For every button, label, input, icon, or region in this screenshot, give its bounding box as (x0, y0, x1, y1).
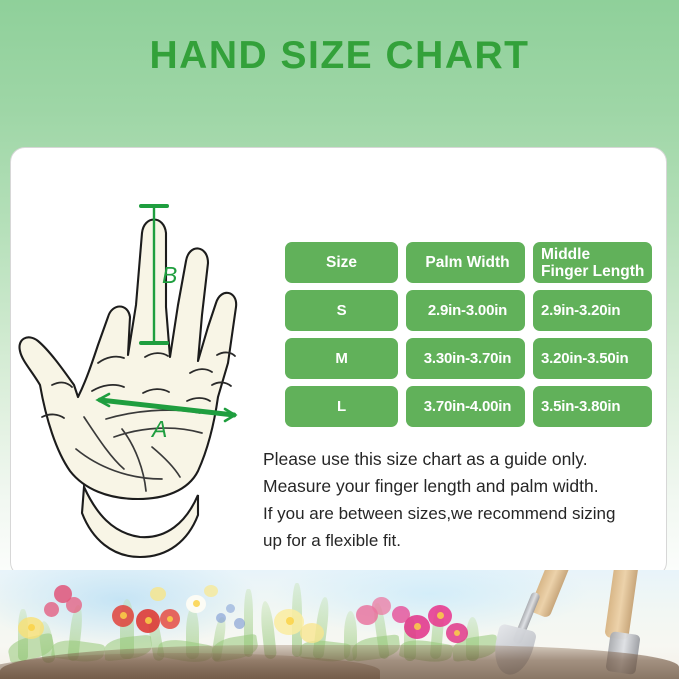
flower-center (120, 612, 127, 619)
table-header-row: Size Palm Width Middle Finger Length (285, 242, 655, 283)
header-size: Size (285, 242, 398, 283)
cell-finger-length-m: 3.20in-3.50in (533, 338, 652, 379)
flower-pink (372, 597, 391, 615)
garden-photo-strip (0, 570, 679, 679)
flower-yellow (204, 585, 218, 597)
cell-finger-length-s: 2.9in-3.20in (533, 290, 652, 331)
flower-center (414, 623, 421, 630)
cell-palm-width-m: 3.30in-3.70in (406, 338, 525, 379)
flower-center (167, 616, 173, 622)
page-title: HAND SIZE CHART (0, 30, 679, 82)
cell-finger-length-l: 3.5in-3.80in (533, 386, 652, 427)
table-row: M 3.30in-3.70in 3.20in-3.50in (285, 338, 655, 379)
cell-size-l: L (285, 386, 398, 427)
table-row: S 2.9in-3.00in 2.9in-3.20in (285, 290, 655, 331)
flower-blue (234, 618, 245, 629)
cell-size-m: M (285, 338, 398, 379)
table-row: L 3.70in-4.00in 3.5in-3.80in (285, 386, 655, 427)
size-table: Size Palm Width Middle Finger Length S 2… (285, 242, 655, 434)
cell-palm-width-l: 3.70in-4.00in (406, 386, 525, 427)
hand-size-chart-page: HAND SIZE CHART (0, 0, 679, 679)
flower-blue (216, 613, 226, 623)
flower-center (454, 630, 460, 636)
flower-yellow (150, 587, 166, 601)
palm-width-label: A (150, 416, 167, 442)
flower-center (437, 612, 444, 619)
flower-center (145, 617, 152, 624)
hand-measurement-diagram: B A (12, 185, 274, 575)
sizing-notes: Please use this size chart as a guide on… (263, 446, 663, 554)
note-line-3: If you are between sizes,we recommend si… (263, 500, 663, 527)
note-line-2: Measure your finger length and palm widt… (263, 473, 663, 500)
header-middle-finger-length: Middle Finger Length (533, 242, 652, 283)
header-middle-finger-length-text: Middle Finger Length (541, 246, 644, 280)
cell-size-s: S (285, 290, 398, 331)
flower-blue (226, 604, 235, 613)
note-line-1: Please use this size chart as a guide on… (263, 446, 663, 473)
note-line-4: up for a flexible fit. (263, 527, 663, 554)
finger-length-label: B (162, 262, 177, 288)
flower-center (28, 624, 35, 631)
flower-center (193, 600, 200, 607)
cell-palm-width-s: 2.9in-3.00in (406, 290, 525, 331)
flower-yellow (300, 623, 324, 643)
header-palm-width: Palm Width (406, 242, 525, 283)
flower-pink (44, 602, 59, 617)
flower-pink (66, 597, 82, 613)
flower-center (286, 617, 294, 625)
flower-magenta (392, 606, 410, 623)
